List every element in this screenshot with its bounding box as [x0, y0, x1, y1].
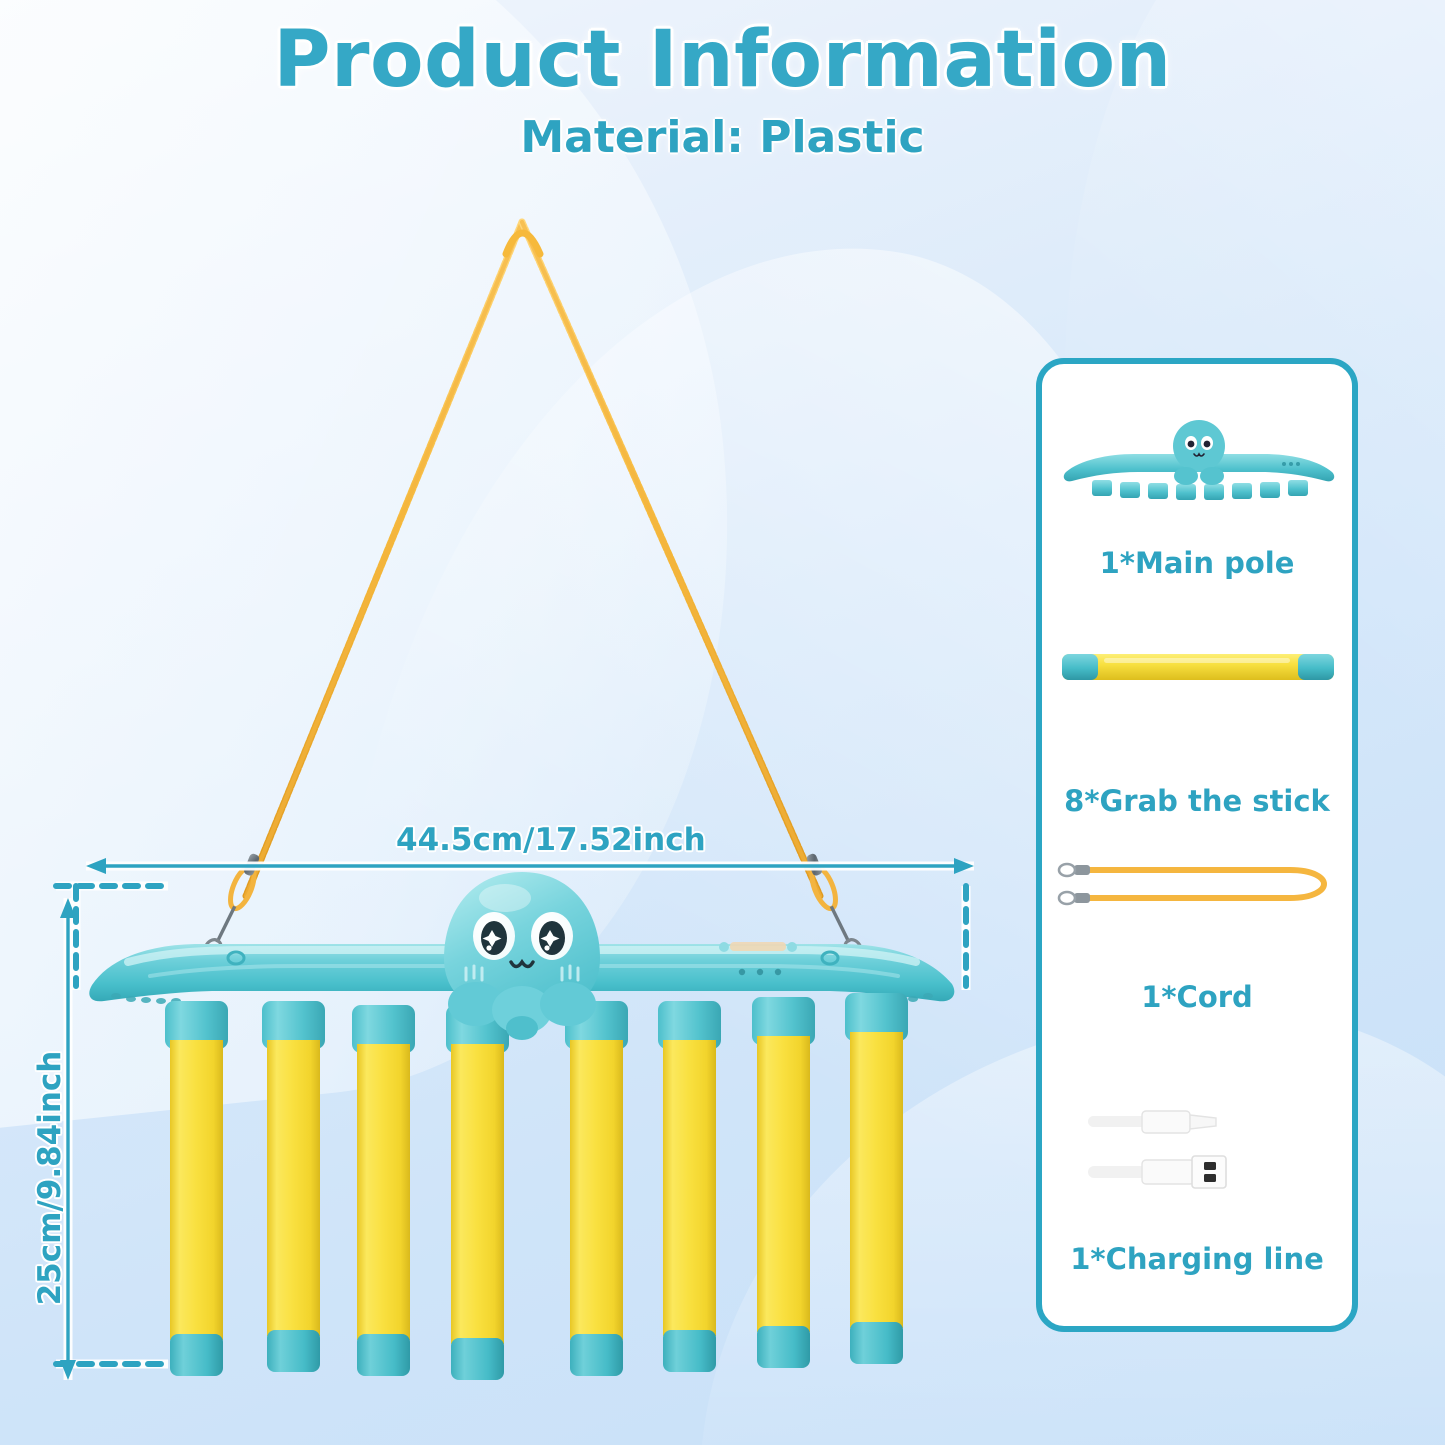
width-dimension-label: 44.5cm/17.52inch [396, 822, 706, 858]
header: Product Information Material: Plastic [0, 20, 1445, 163]
product-infographic: Product Information Material: Plastic [0, 0, 1445, 1445]
dimension-guide-lines [56, 886, 966, 1364]
height-dimension-label: 25cm/9.84inch [32, 1048, 68, 1308]
width-arrow [86, 858, 974, 874]
dimension-annotations [0, 0, 1445, 1445]
page-title: Product Information [0, 20, 1445, 102]
material-subtitle: Material: Plastic [0, 112, 1445, 163]
